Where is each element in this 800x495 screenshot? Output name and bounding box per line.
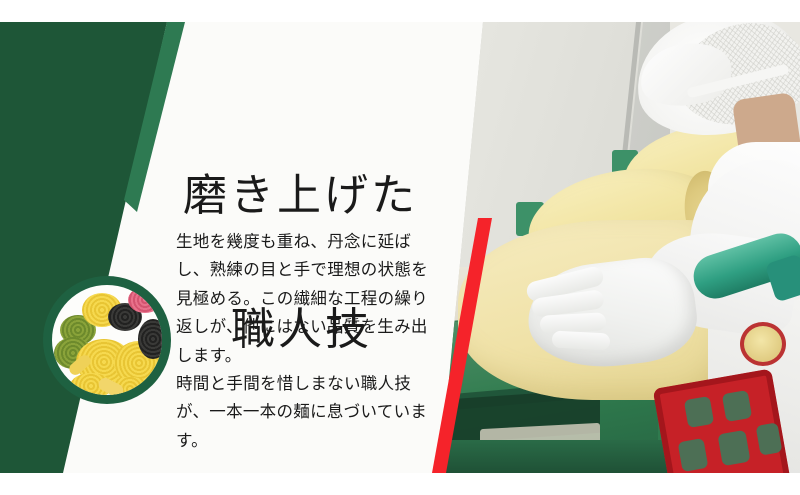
body-paragraph-1: 生地を幾度も重ね、丹念に延ばし、熟練の目と手で理想の状態を見極める。この繊細な工… — [176, 228, 428, 370]
machine-dial — [740, 322, 786, 366]
pasta-photo — [52, 285, 162, 395]
glove-finger-4 — [552, 330, 611, 350]
green-angled-panel — [0, 22, 200, 473]
frame-border-top — [0, 0, 800, 22]
lattice-hole — [722, 390, 752, 422]
slide-root: 磨き上げた 職人技 生地を幾度も重ね、丹念に延ばし、熟練の目と手で理想の状態を見… — [0, 0, 800, 495]
lattice-hole — [678, 438, 709, 472]
main-photo-inner — [440, 22, 800, 473]
body-paragraph-2: 時間と手間を惜しまない職人技が、一本一本の麺に息づいています。 — [176, 370, 428, 455]
pasta-nest-pink — [128, 287, 162, 313]
headline-line-1: 磨き上げた — [183, 174, 463, 219]
lattice-hole — [717, 430, 750, 466]
slide-canvas: 磨き上げた 職人技 生地を幾度も重ね、丹念に延ばし、熟練の目と手で理想の状態を見… — [0, 22, 800, 473]
circular-photo-frame — [43, 276, 171, 404]
glove-finger-3 — [540, 312, 607, 333]
lattice-hole — [684, 396, 714, 428]
pasta-nest-black — [138, 319, 162, 359]
main-photo — [440, 22, 800, 473]
frame-border-bottom — [0, 473, 800, 495]
